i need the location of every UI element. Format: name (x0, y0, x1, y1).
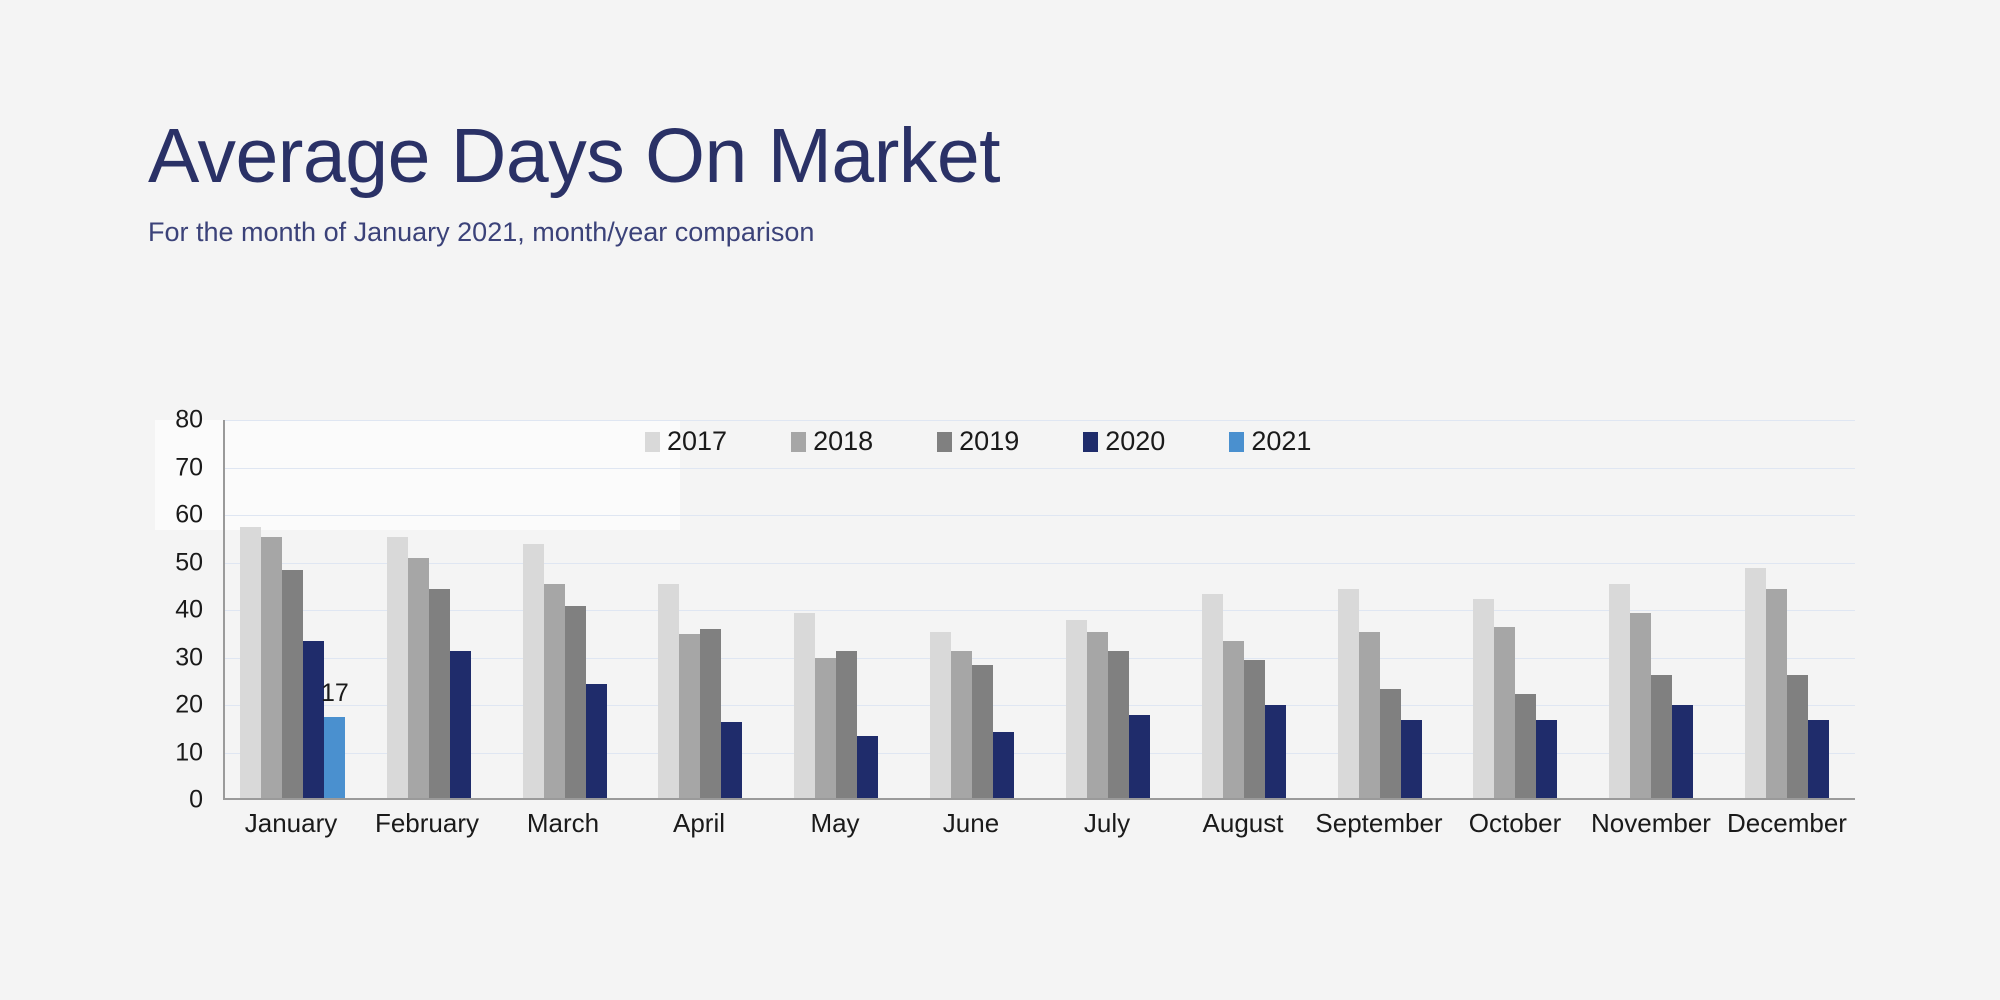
bar-group-june (904, 420, 1040, 798)
bar-group-september (1312, 420, 1448, 798)
x-axis-tick: December (1719, 808, 1855, 839)
bar-2020-september[interactable] (1401, 720, 1422, 798)
y-axis-tick: 10 (175, 740, 203, 765)
x-axis-tick: March (495, 808, 631, 839)
y-axis-tick: 70 (175, 455, 203, 480)
legend-swatch-icon (1083, 432, 1098, 452)
bar-2017-december[interactable] (1745, 568, 1766, 798)
chart-header: Average Days On Market For the month of … (148, 118, 1548, 248)
bar-2020-november[interactable] (1672, 705, 1693, 798)
bar-2020-june[interactable] (993, 732, 1014, 799)
bar-2019-february[interactable] (429, 589, 450, 798)
x-axis-tick: October (1447, 808, 1583, 839)
bar-2017-august[interactable] (1202, 594, 1223, 798)
x-axis-tick: September (1311, 808, 1447, 839)
y-axis-tick: 30 (175, 645, 203, 670)
bar-chart: 80706050403020100 20172018201920202021 1… (155, 420, 1855, 850)
y-axis-tick: 40 (175, 598, 203, 623)
legend-swatch-icon (791, 432, 806, 452)
bar-2019-march[interactable] (565, 606, 586, 798)
bar-2021-january[interactable]: 17 (324, 717, 345, 798)
bar-group-may (768, 420, 904, 798)
x-axis-tick: June (903, 808, 1039, 839)
bar-2019-june[interactable] (972, 665, 993, 798)
x-axis-tick: August (1175, 808, 1311, 839)
bar-2020-april[interactable] (721, 722, 742, 798)
legend-swatch-icon (645, 432, 660, 452)
bar-group-march (497, 420, 633, 798)
bar-2017-may[interactable] (794, 613, 815, 798)
bar-2019-january[interactable] (282, 570, 303, 798)
y-axis-tick: 50 (175, 550, 203, 575)
legend-label: 2017 (667, 428, 727, 455)
bar-2018-october[interactable] (1494, 627, 1515, 798)
bar-2020-october[interactable] (1536, 720, 1557, 798)
page-title: Average Days On Market (148, 118, 1548, 195)
bar-2020-august[interactable] (1265, 705, 1286, 798)
bar-group-february (361, 420, 497, 798)
bar-2018-july[interactable] (1087, 632, 1108, 798)
bar-2019-may[interactable] (836, 651, 857, 798)
bar-2018-august[interactable] (1223, 641, 1244, 798)
bar-2018-june[interactable] (951, 651, 972, 798)
bar-2020-march[interactable] (586, 684, 607, 798)
y-axis-tick: 0 (189, 788, 203, 813)
bar-group-august (1176, 420, 1312, 798)
bar-group-january: 17 (225, 420, 361, 798)
legend-label: 2020 (1105, 428, 1165, 455)
bar-group-november (1583, 420, 1719, 798)
bar-2018-may[interactable] (815, 658, 836, 798)
bar-group-july (1040, 420, 1176, 798)
bar-2020-january[interactable] (303, 641, 324, 798)
y-axis-tick: 80 (175, 408, 203, 433)
bar-2017-march[interactable] (523, 544, 544, 798)
x-axis: JanuaryFebruaryMarchAprilMayJuneJulyAugu… (223, 808, 1855, 839)
bar-2019-november[interactable] (1651, 675, 1672, 799)
page-subtitle: For the month of January 2021, month/yea… (148, 195, 1548, 248)
chart-legend: 20172018201920202021 (645, 428, 1311, 455)
bar-2019-july[interactable] (1108, 651, 1129, 798)
x-axis-tick: November (1583, 808, 1719, 839)
bar-2020-february[interactable] (450, 651, 471, 798)
bar-2017-february[interactable] (387, 537, 408, 798)
bar-group-april (632, 420, 768, 798)
bar-2020-may[interactable] (857, 736, 878, 798)
bar-2018-january[interactable] (261, 537, 282, 798)
bar-2020-december[interactable] (1808, 720, 1829, 798)
bar-2020-july[interactable] (1129, 715, 1150, 798)
bar-groups: 17 (225, 420, 1855, 798)
bar-2019-october[interactable] (1515, 694, 1536, 799)
bar-2017-april[interactable] (658, 584, 679, 798)
y-axis-tick: 20 (175, 693, 203, 718)
legend-item-2017[interactable]: 2017 (645, 428, 727, 455)
legend-swatch-icon (1229, 432, 1244, 452)
bar-2018-december[interactable] (1766, 589, 1787, 798)
legend-label: 2019 (959, 428, 1019, 455)
x-axis-tick: April (631, 808, 767, 839)
legend-label: 2018 (813, 428, 873, 455)
bar-2017-july[interactable] (1066, 620, 1087, 798)
bar-2018-march[interactable] (544, 584, 565, 798)
legend-item-2019[interactable]: 2019 (937, 428, 1019, 455)
bar-2018-september[interactable] (1359, 632, 1380, 798)
legend-swatch-icon (937, 432, 952, 452)
bar-2019-august[interactable] (1244, 660, 1265, 798)
legend-item-2021[interactable]: 2021 (1229, 428, 1311, 455)
bar-2017-january[interactable] (240, 527, 261, 798)
bar-2017-october[interactable] (1473, 599, 1494, 799)
bar-group-december (1719, 420, 1855, 798)
plot-wrapper: 80706050403020100 20172018201920202021 1… (155, 420, 1855, 850)
bar-2019-september[interactable] (1380, 689, 1401, 798)
plot-area: 20172018201920202021 17 (223, 420, 1855, 800)
y-axis-tick: 60 (175, 503, 203, 528)
bar-2017-november[interactable] (1609, 584, 1630, 798)
bar-2018-april[interactable] (679, 634, 700, 798)
x-axis-tick: July (1039, 808, 1175, 839)
legend-item-2020[interactable]: 2020 (1083, 428, 1165, 455)
y-axis: 80706050403020100 (155, 420, 213, 800)
legend-item-2018[interactable]: 2018 (791, 428, 873, 455)
bar-value-label: 17 (321, 679, 349, 708)
x-axis-tick: January (223, 808, 359, 839)
x-axis-tick: May (767, 808, 903, 839)
bar-group-october (1447, 420, 1583, 798)
bar-2017-june[interactable] (930, 632, 951, 798)
bar-2019-april[interactable] (700, 629, 721, 798)
bar-2018-february[interactable] (408, 558, 429, 798)
bar-2019-december[interactable] (1787, 675, 1808, 799)
bar-2017-september[interactable] (1338, 589, 1359, 798)
legend-label: 2021 (1251, 428, 1311, 455)
bar-2018-november[interactable] (1630, 613, 1651, 798)
x-axis-tick: February (359, 808, 495, 839)
